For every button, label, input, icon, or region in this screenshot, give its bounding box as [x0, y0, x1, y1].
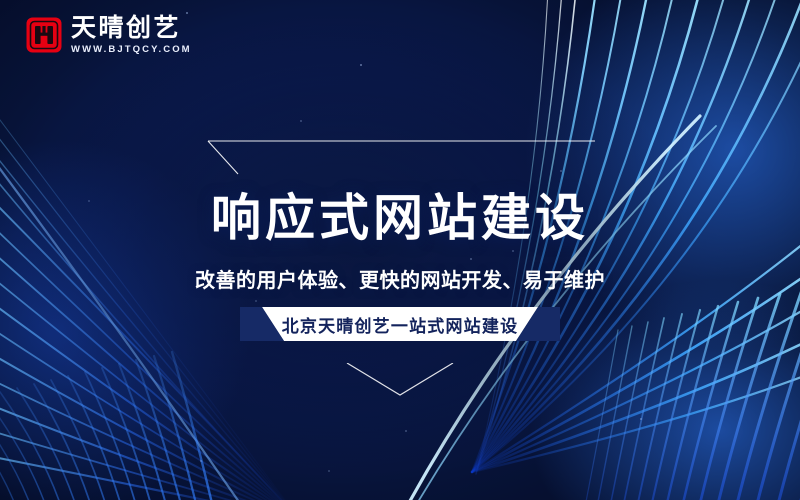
- brand-website: WWW.BJTQCY.COM: [71, 45, 192, 55]
- hero-content: 响应式网站建设 改善的用户体验、更快的网站开发、易于维护 北京天晴创艺一站式网站…: [0, 138, 800, 397]
- chevron-down-icon: [345, 363, 455, 397]
- brand-logo[interactable]: 天晴创艺 WWW.BJTQCY.COM: [26, 16, 192, 55]
- page-subtitle: 改善的用户体验、更快的网站开发、易于维护: [195, 264, 605, 293]
- brand-name: 天晴创艺: [71, 16, 192, 41]
- page-title: 响应式网站建设: [211, 178, 589, 250]
- angle-bracket-decoration: [205, 138, 595, 176]
- tianqing-logo-icon: [26, 17, 62, 53]
- tagline-ribbon: 北京天晴创艺一站式网站建设: [240, 307, 560, 341]
- banner-stage: 天晴创艺 WWW.BJTQCY.COM 响应式网站建设 改善的用户体验、更快的网…: [0, 0, 800, 500]
- tagline-text: 北京天晴创艺一站式网站建设: [282, 312, 519, 337]
